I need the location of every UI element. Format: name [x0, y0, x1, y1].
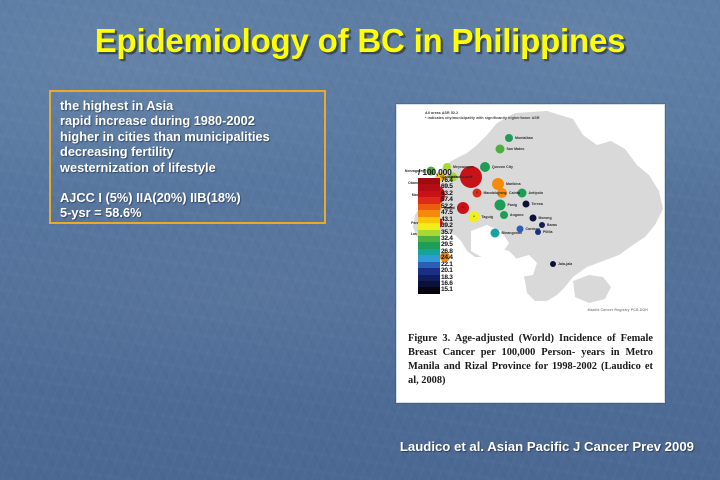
map-marker [495, 200, 506, 211]
map-marker-label: Quezon City [492, 165, 513, 169]
map-marker-label: Montalban [515, 136, 533, 140]
map-marker-label: San Mateo [507, 147, 525, 151]
map-marker-star-icon: * [476, 191, 478, 195]
bullet-line: westernization of lifestyle [60, 160, 324, 175]
map-marker-star-icon: * [470, 175, 472, 179]
map-marker-star-icon: * [462, 206, 464, 210]
legend-row: 15.1 [418, 287, 453, 293]
map-note-asterisk: * indicates city/municipality with signi… [425, 116, 553, 121]
page-title: Epidemiology of BC in Philippines [0, 22, 720, 60]
bullet-line: the highest in Asia [60, 98, 324, 113]
map-marker-label: Morong [539, 216, 552, 220]
map-marker [496, 145, 505, 154]
map-marker-star-icon: * [473, 215, 475, 219]
map-marker-label: Binangonan [502, 231, 523, 235]
map-marker-label: Pililla [543, 230, 553, 234]
map-marker [530, 215, 537, 222]
map-marker [480, 162, 490, 172]
map-marker-label: Jala-jala [558, 262, 572, 266]
map-marker-label: Marikina [506, 182, 521, 186]
map-marker-label: Taguig [482, 215, 494, 219]
map-marker-label: Baras [547, 223, 557, 227]
bullet-text-box: the highest in Asia rapid increase durin… [49, 90, 326, 224]
bullet-line: higher in cities than municipalities [60, 129, 324, 144]
legend-label: 15.1 [441, 287, 453, 293]
footer-citation: Laudico et al. Asian Pacific J Cancer Pr… [400, 439, 694, 454]
map-marker [500, 211, 508, 219]
map-marker [491, 229, 500, 238]
bullet-line: rapid increase during 1980-2002 [60, 113, 324, 128]
map-source-credit: Manila Cancer Registry PCS-DOH [588, 308, 648, 312]
map-marker-label: Cainta [509, 191, 520, 195]
bullet-line-survival: 5-ysr = 58.6% [60, 205, 324, 220]
figure-caption: Figure 3. Age-adjusted (World) Incidence… [397, 318, 664, 388]
map-marker-label: Meycauayan [453, 165, 474, 169]
map-marker-label: Teresa [532, 202, 543, 206]
map-note-block: All areas ASR 52.2 * indicates city/muni… [425, 111, 553, 120]
slide-canvas: Epidemiology of BC in Philippines the hi… [0, 0, 720, 480]
map-area: All areas ASR 52.2 * indicates city/muni… [397, 105, 664, 318]
legend-title: / 100,000 [418, 167, 453, 177]
bullet-line-spacer [60, 175, 324, 190]
map-marker-label: Antipolo [529, 191, 544, 195]
legend-rows: 76.469.563.257.452.247.543.139.235.732.4… [418, 178, 453, 294]
legend-swatch [418, 287, 440, 293]
figure-panel: All areas ASR 52.2 * indicates city/muni… [396, 104, 665, 403]
map-marker-label: Mandaluyong [484, 191, 507, 195]
map-legend: / 100,000 76.469.563.257.452.247.543.139… [418, 167, 453, 294]
map-marker [550, 261, 556, 267]
bullet-line-staging: AJCC I (5%) IIA(20%) IIB(18%) [60, 190, 324, 205]
map-marker [523, 201, 530, 208]
map-marker-label: Cardona [526, 227, 541, 231]
map-marker-label: Angono [510, 213, 524, 217]
map-marker-label: Pasig [508, 203, 518, 207]
bullet-line: decreasing fertility [60, 144, 324, 159]
map-marker [505, 134, 513, 142]
